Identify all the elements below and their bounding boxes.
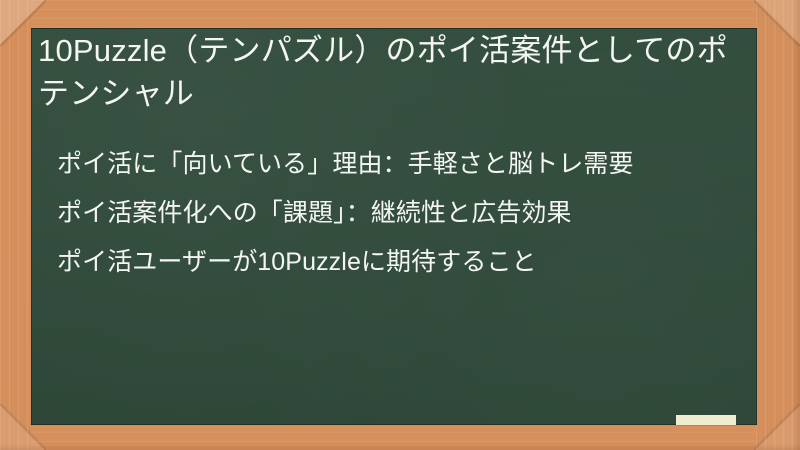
list-item: ポイ活に「向いている」理由：手軽さと脳トレ需要 (57, 147, 747, 182)
frame-left-rail (0, 0, 32, 450)
chalk-stick-icon (676, 415, 736, 425)
slide-content: 10Puzzle（テンパズル）のポイ活案件としてのポテンシャル ポイ活に「向いて… (31, 28, 757, 425)
frame-right-shadow (792, 0, 800, 450)
slide-title: 10Puzzle（テンパズル）のポイ活案件としてのポテンシャル (38, 30, 748, 116)
chalkboard-slide: 10Puzzle（テンパズル）のポイ活案件としてのポテンシャル ポイ活に「向いて… (0, 0, 800, 450)
frame-bottom-shadow (0, 444, 800, 450)
list-item: ポイ活案件化への「課題」：継続性と広告効果 (57, 196, 747, 231)
list-item: ポイ活ユーザーが10Puzzleに期待すること (57, 245, 747, 280)
bullet-list: ポイ活に「向いている」理由：手軽さと脳トレ需要 ポイ活案件化への「課題」：継続性… (57, 147, 747, 280)
chalkboard-surface: 10Puzzle（テンパズル）のポイ活案件としてのポテンシャル ポイ活に「向いて… (31, 28, 757, 425)
